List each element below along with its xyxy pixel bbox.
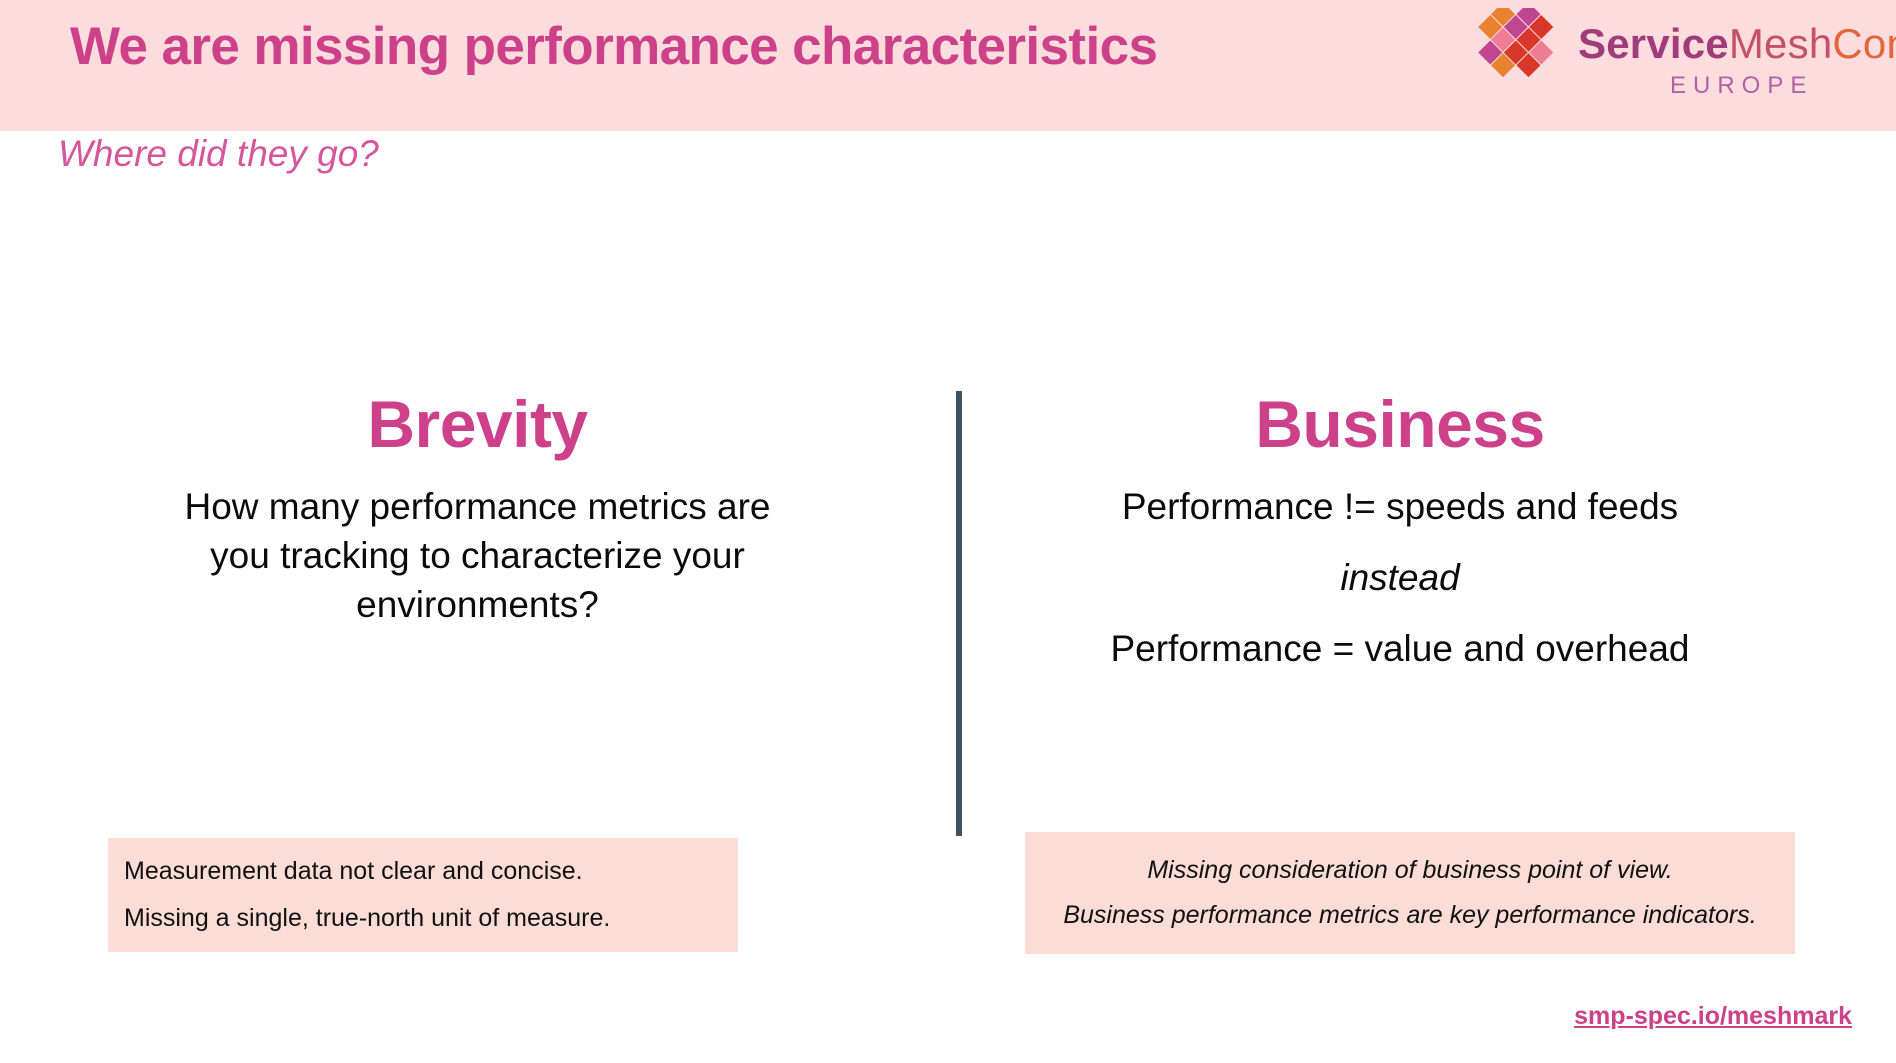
- body-line: you tracking to characterize your: [100, 532, 855, 581]
- column-heading-business: Business: [1005, 390, 1795, 459]
- callout-line: Business performance metrics are key per…: [1063, 898, 1756, 934]
- column-body-business: Performance != speeds and feeds instead …: [1005, 483, 1795, 673]
- servicemeshcon-diamond-logo-icon: [1468, 8, 1572, 104]
- header-band: We are missing performance characteristi…: [0, 0, 1896, 131]
- column-brevity: Brevity How many performance metrics are…: [100, 390, 855, 630]
- servicemeshcon-logo: ServiceMeshCon EUROPE: [1468, 6, 1888, 124]
- logo-word-con: Con: [1832, 20, 1896, 67]
- footer-link-smp-spec[interactable]: smp-spec.io/meshmark: [1574, 1002, 1852, 1031]
- body-line: Performance = value and overhead: [1005, 625, 1795, 674]
- logo-region-label: EUROPE: [1670, 72, 1813, 100]
- body-line: environments?: [100, 581, 855, 630]
- logo-wordmark: ServiceMeshCon: [1578, 20, 1896, 68]
- body-line-instead: instead: [1005, 554, 1795, 603]
- callout-box-business: Missing consideration of business point …: [1025, 832, 1795, 954]
- logo-word-mesh: Mesh: [1729, 20, 1833, 67]
- column-body-brevity: How many performance metrics are you tra…: [100, 483, 855, 629]
- callout-line: Measurement data not clear and concise.: [124, 854, 583, 890]
- column-heading-brevity: Brevity: [100, 390, 855, 459]
- column-divider: [956, 391, 962, 836]
- slide-subtitle: Where did they go?: [58, 133, 379, 175]
- page-title: We are missing performance characteristi…: [70, 18, 1450, 76]
- body-line: How many performance metrics are: [100, 483, 855, 532]
- column-business: Business Performance != speeds and feeds…: [1005, 390, 1795, 674]
- logo-word-service: Service: [1578, 20, 1729, 67]
- callout-line: Missing consideration of business point …: [1147, 853, 1672, 889]
- callout-box-brevity: Measurement data not clear and concise. …: [108, 838, 738, 952]
- callout-line: Missing a single, true-north unit of mea…: [124, 901, 610, 937]
- body-line: Performance != speeds and feeds: [1005, 483, 1795, 532]
